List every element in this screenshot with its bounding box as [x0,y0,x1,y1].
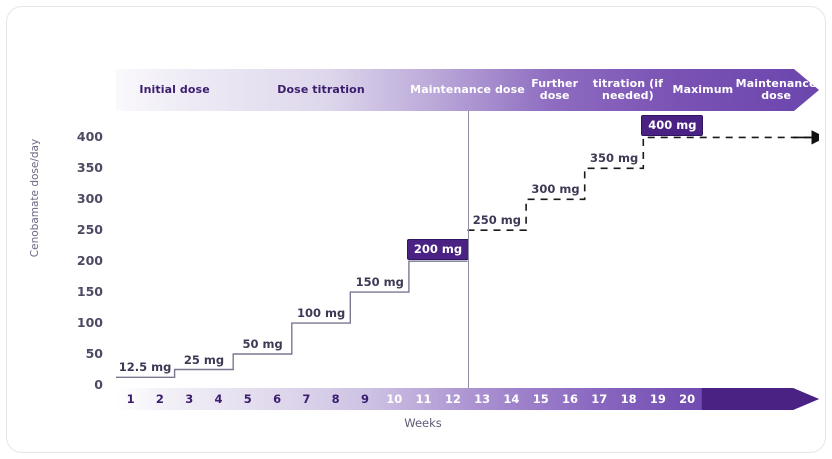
dose-label-25: 25 mg [184,353,224,367]
dose-label-12.5: 12.5 mg [119,360,172,374]
week-tick-5: 5 [233,388,262,410]
week-tick-14: 14 [497,388,526,410]
y-tick-label: 150 [63,284,103,299]
x-axis-title: Weeks [7,416,826,430]
week-tick-2: 2 [145,388,174,410]
y-tick-label: 300 [63,191,103,206]
phase-label-further-titration: Further dosetitration (if needed) [526,69,672,111]
phase-label-dose-titration: Dose titration [233,69,409,111]
dose-label-100: 100 mg [297,306,345,320]
week-tick-7: 7 [292,388,321,410]
week-tick-17: 17 [585,388,614,410]
weeks-axis: 1234567891011121314151617181920 [116,388,819,410]
y-tick-label: 50 [63,346,103,361]
dose-label-150: 150 mg [356,275,404,289]
week-tick-1: 1 [116,388,145,410]
y-tick-label: 350 [63,160,103,175]
y-tick-label: 100 [63,315,103,330]
week-tick-18: 18 [614,388,643,410]
week-tick-19: 19 [643,388,672,410]
chart-card: Initial dose Dose titration Maintenance … [6,6,826,453]
week-tick-13: 13 [468,388,497,410]
y-axis-title: Cenobamate dose/day [29,108,41,288]
dose-label-50: 50 mg [242,337,282,351]
dose-label-250: 250 mg [473,213,521,227]
phase-label-maintenance-dose: Maintenance dose [409,69,526,111]
dose-label-200: 200 mg [407,239,469,260]
y-axis: 050100150200250300350400 [63,125,103,385]
week-tick-8: 8 [321,388,350,410]
week-tick-3: 3 [175,388,204,410]
week-tick-4: 4 [204,388,233,410]
week-tick-9: 9 [350,388,379,410]
phase-label-initial-dose: Initial dose [116,69,233,111]
week-tick-10: 10 [380,388,409,410]
y-tick-label: 400 [63,129,103,144]
week-tick-16: 16 [555,388,584,410]
y-tick-label: 250 [63,222,103,237]
week-tick-12: 12 [438,388,467,410]
weeks-continuation-arrow [702,388,819,410]
dose-label-350: 350 mg [590,151,638,165]
week-tick-20: 20 [673,388,702,410]
dose-label-400: 400 mg [641,115,703,136]
phase-banner: Initial dose Dose titration Maintenance … [116,69,819,111]
y-tick-label: 200 [63,253,103,268]
phase-label-maximum-maintenance: MaximumMaintenance dose [673,69,819,111]
maintenance-divider [468,111,469,388]
dose-label-300: 300 mg [531,182,579,196]
y-tick-label: 0 [63,377,103,392]
week-tick-6: 6 [262,388,291,410]
week-tick-15: 15 [526,388,555,410]
week-tick-11: 11 [409,388,438,410]
